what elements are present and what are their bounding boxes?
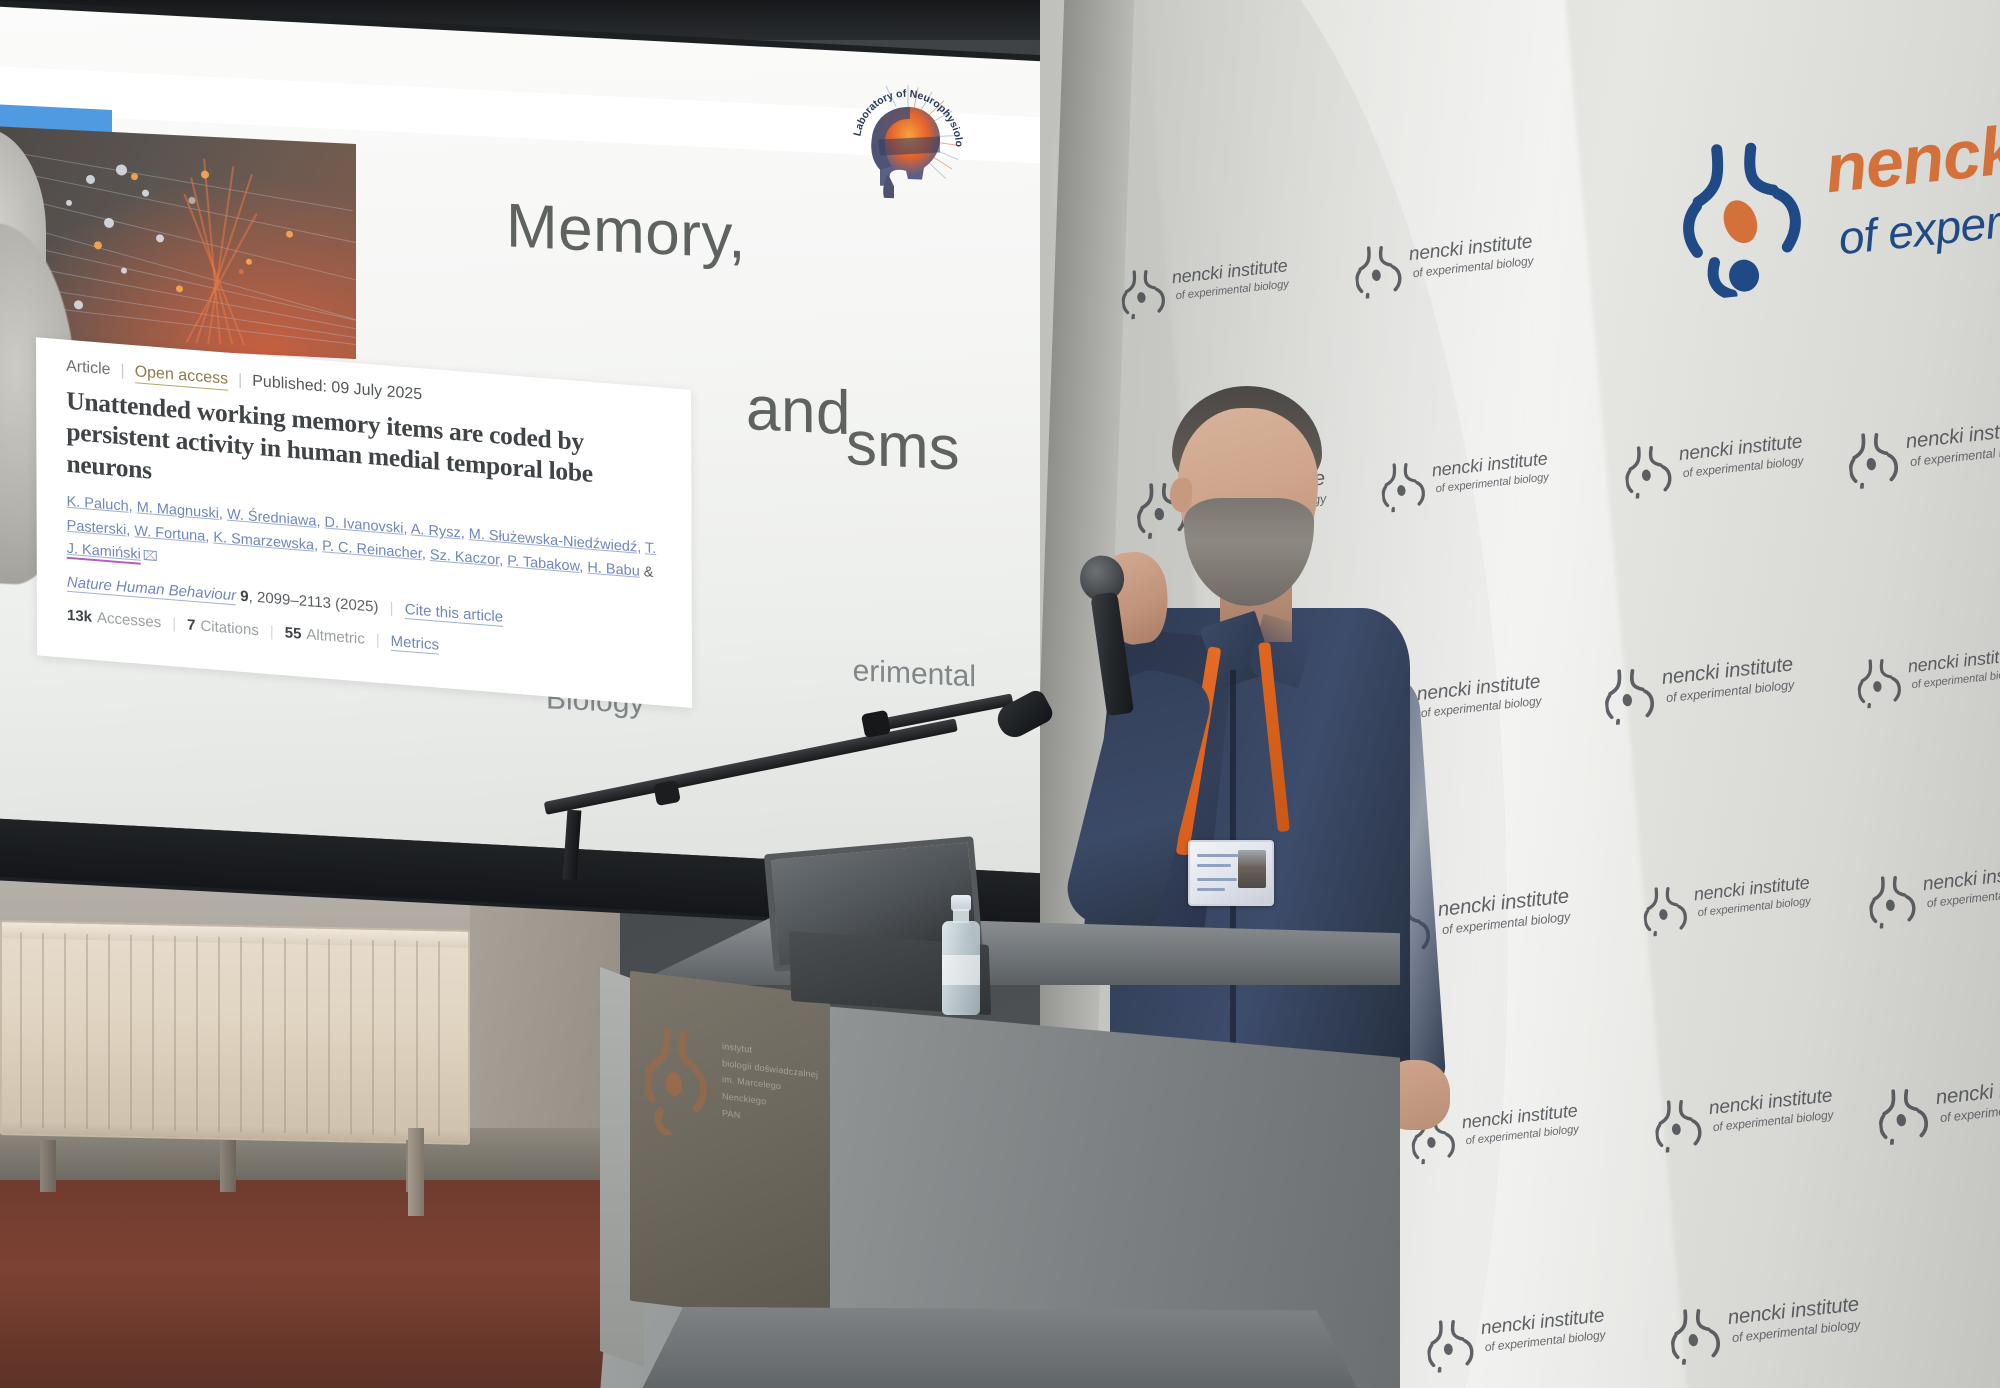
boom-microphone-stand [545,690,1105,850]
nencki-star-icon [1855,654,1907,709]
bottle-label [942,955,980,985]
podium-plaque: instytutbiologii doświadczalnejim. Marce… [630,971,830,1326]
boom-lower-arm [544,718,958,814]
altmetric-label: Altmetric [306,626,364,648]
author-link[interactable]: P. Tabakow [507,553,579,575]
presentation-photo: Laboratory of Neurophysiology of Mind Me… [0,0,2000,1388]
journal-pages: 2099–2113 [257,589,331,612]
nencki-watermark-logo: nencki instituteof experimental biology [1667,1284,1890,1368]
nencki-star-icon [1622,441,1677,500]
article-type-label: Article [66,358,111,380]
accesses-label: Accesses [97,609,161,631]
boom-joint-upper [861,710,891,739]
corresponding-author-link[interactable]: J. Kamiński [67,541,141,565]
published-date: Published: 09 July 2025 [252,373,422,405]
water-bottle [940,895,982,1015]
laboratory-of-neurophysiology-of-mind-logo: Laboratory of Neurophysiology of Mind [848,72,968,208]
slide-title-line-3: sms [846,408,960,485]
author-ampersand: & [644,564,654,581]
podium-top-surface [600,915,1400,985]
conference-id-badge [1188,840,1274,906]
metrics-divider-2: | [270,623,274,640]
author-link[interactable]: K. Smarzewska [213,529,314,553]
nencki-star-icon [1845,427,1904,489]
author-link[interactable]: H. Babu [587,559,639,579]
author-link[interactable]: M. Magnuski [137,499,219,522]
open-access-link[interactable]: Open access [135,363,228,391]
journal-divider: | [390,599,394,616]
radiator-pipe [408,1128,424,1216]
author-link[interactable]: A. Rysz [411,521,461,541]
author-link[interactable]: W. Średniawa [227,507,317,530]
cite-this-article-link[interactable]: Cite this article [405,600,503,626]
nencki-watermark-logo: nencki instituteof experimental biology [1866,853,2000,932]
author-link[interactable]: K. Paluch [67,494,129,515]
wall-radiator [0,920,470,1145]
nencki-star-icon [1641,882,1693,937]
envelope-icon[interactable] [144,550,157,561]
nencki-watermark-logo: nencki instituteof experimental biology [1652,1077,1862,1156]
nencki-watermark-logo: nencki instituteof experimental biology [1622,423,1832,502]
badge-photo [1238,850,1266,888]
nencki-star-icon [1119,265,1171,320]
podium-plaque-text: instytutbiologii doświadczalnejim. Marce… [722,1038,822,1133]
nencki-star-icon [1352,241,1407,300]
journal-year: (2025) [335,595,378,615]
journal-comma: , [249,588,253,605]
nature-article-card: Article | Open access | Published: 09 Ju… [36,337,692,708]
author-link[interactable]: W. Fortuna [134,523,205,545]
metrics-divider-3: | [376,631,380,648]
author-link[interactable]: D. Ivanovski [324,515,403,537]
author-link[interactable]: P. C. Reinacher [322,538,422,562]
logo-brand-text: nencki inst [1821,95,2000,209]
citations-label: Citations [200,617,258,639]
journal-volume: 9 [240,587,248,605]
nencki-watermark-logo: nencki instituteof experimental biology [1875,1064,2000,1148]
nencki-star-icon [1875,1083,1934,1145]
citations-value: 7 [187,616,195,634]
nencki-watermark-logo: nencki instituteof experimental biology [1601,644,1824,728]
speaker-ear [1170,478,1192,512]
metrics-link[interactable]: Metrics [391,632,439,654]
author-link[interactable]: Sz. Kaczor [430,547,499,569]
podium-base [640,1307,1360,1388]
nencki-star-icon [1866,871,1921,930]
accesses-value: 13k [67,606,92,625]
meta-divider-1: | [121,362,125,380]
nencki-watermark-logo: nencki instituteof experimental biology [1854,637,2000,711]
nencki-star-icon [1672,128,1828,302]
journal-name-link[interactable]: Nature Human Behaviour [67,573,236,605]
speaker-beard [1184,498,1314,606]
nencki-star-icon [1652,1095,1707,1154]
meta-divider-2: | [238,372,242,390]
boom-joint-lower [653,780,681,806]
nencki-watermark-logo: nencki instituteof experimental biology [1640,865,1837,939]
altmetric-value: 55 [285,624,302,642]
nencki-institute-main-logo: nencki inst of experimental b [1671,89,2000,332]
radiator-legs [40,1140,440,1198]
nencki-watermark-logo: nencki instituteof experimental biology [1845,408,2000,492]
nencki-star-icon [1667,1303,1726,1365]
lectern-podium: instytutbiologii doświadczalnejim. Marce… [600,915,1400,1388]
nencki-star-emblem [646,1023,712,1141]
nencki-star-icon [1601,663,1660,725]
metrics-divider-1: | [172,615,176,632]
